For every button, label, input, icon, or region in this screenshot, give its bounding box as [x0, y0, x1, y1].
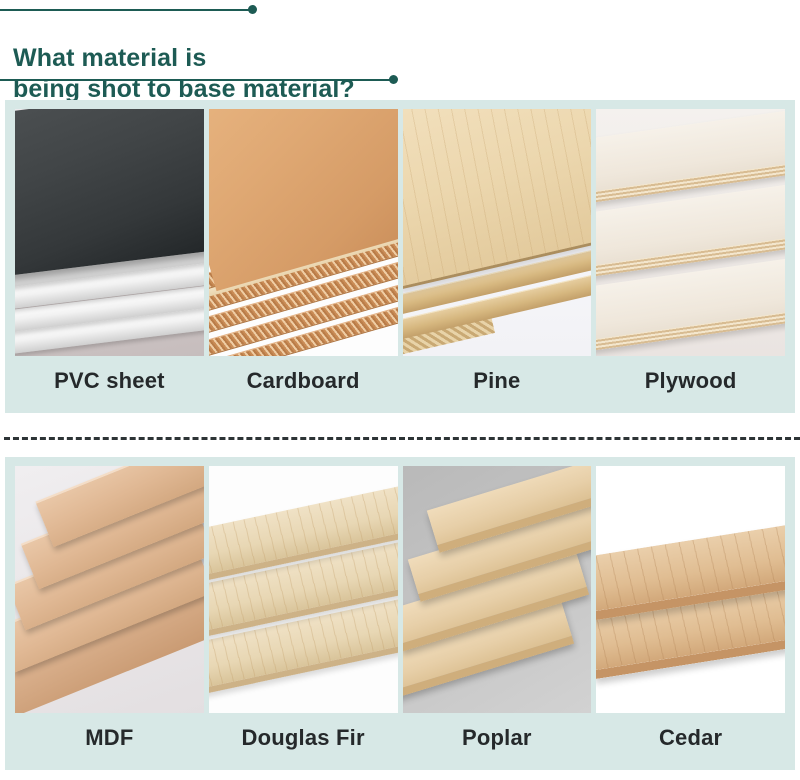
poplar-photo [403, 466, 592, 713]
material-row-1: PVC sheet Cardboard Pine Plywood [5, 100, 795, 413]
material-image-cedar [596, 466, 785, 713]
material-image-pine [403, 109, 592, 356]
material-label-cardboard: Cardboard [209, 356, 398, 406]
material-image-cardboard [209, 109, 398, 356]
material-image-plywood [596, 109, 785, 356]
material-label-douglas-fir: Douglas Fir [209, 713, 398, 763]
material-image-pvc-sheet [15, 109, 204, 356]
plywood-photo [596, 109, 785, 356]
pine-photo [403, 109, 592, 356]
header: What material is being shot to base mate… [0, 0, 800, 95]
material-image-mdf [15, 466, 204, 713]
material-row-1-images [15, 109, 785, 356]
cedar-photo [596, 466, 785, 713]
row-divider [4, 437, 800, 440]
douglas-fir-photo [209, 466, 398, 713]
pvc-sheet-photo [15, 109, 204, 356]
material-label-mdf: MDF [15, 713, 204, 763]
material-image-douglas-fir [209, 466, 398, 713]
page-title-line-1: What material is [13, 44, 206, 72]
material-label-pine: Pine [403, 356, 592, 406]
material-row-2-images [15, 466, 785, 713]
header-bottom-rule-dot [389, 75, 398, 84]
cardboard-photo [209, 109, 398, 356]
material-label-cedar: Cedar [596, 713, 785, 763]
mdf-photo [15, 466, 204, 713]
material-row-2: MDF Douglas Fir Poplar Cedar [5, 457, 795, 770]
header-bottom-rule [0, 79, 392, 81]
material-label-plywood: Plywood [596, 356, 785, 406]
material-row-2-labels: MDF Douglas Fir Poplar Cedar [15, 713, 785, 763]
header-top-rule [0, 9, 251, 11]
material-label-poplar: Poplar [403, 713, 592, 763]
material-label-pvc-sheet: PVC sheet [15, 356, 204, 406]
material-row-1-labels: PVC sheet Cardboard Pine Plywood [15, 356, 785, 406]
material-image-poplar [403, 466, 592, 713]
